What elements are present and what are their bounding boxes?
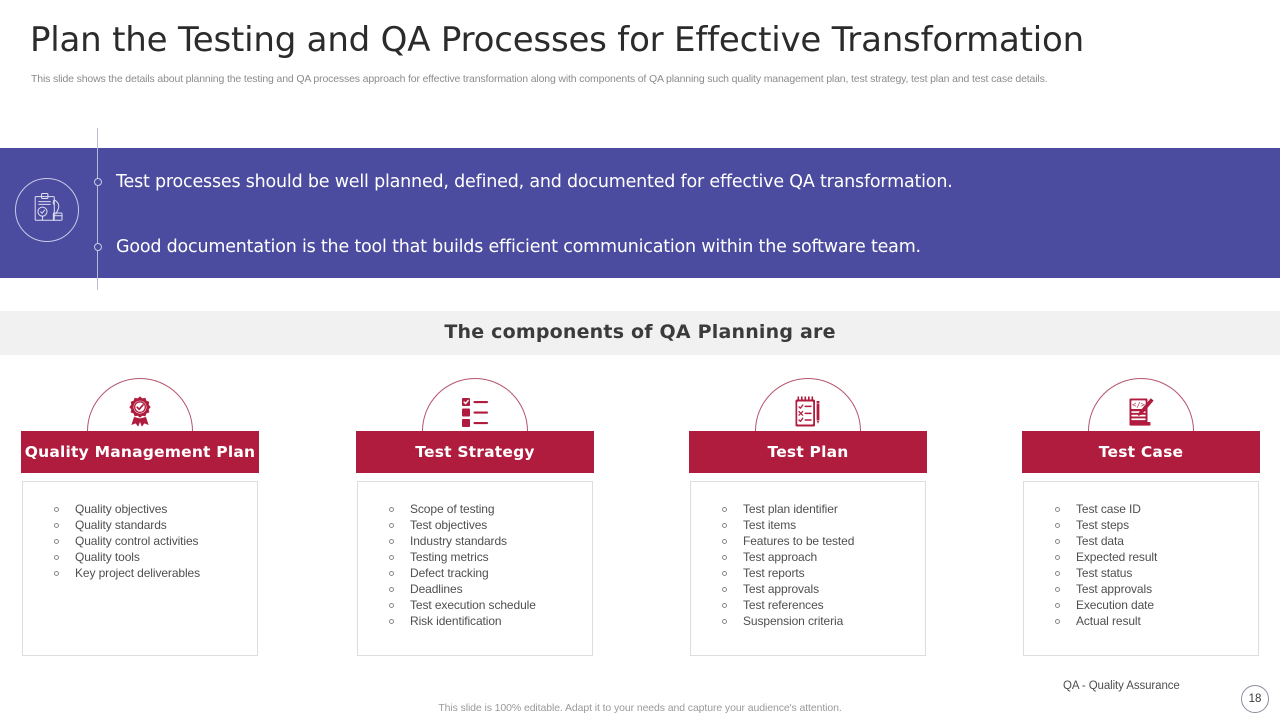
list-item: Expected result	[1054, 549, 1258, 565]
banner-bullet-dot-1	[94, 178, 102, 186]
card-title: Test Plan	[767, 443, 848, 461]
checklist-icon	[455, 392, 495, 432]
list-item: Execution date	[1054, 597, 1258, 613]
list-item: Quality tools	[53, 549, 257, 565]
card-test-case[interactable]: </> Test Case Test case ID Test steps	[1022, 378, 1260, 663]
card-header: Quality Management Plan	[21, 431, 259, 473]
list-item: Key project deliverables	[53, 565, 257, 581]
code-document-pencil-icon: </>	[1121, 392, 1161, 432]
banner-text-1: Test processes should be well planned, d…	[116, 172, 953, 192]
page-title: Plan the Testing and QA Processes for Ef…	[30, 20, 1250, 60]
card-list: Test case ID Test steps Test data Expect…	[1024, 501, 1258, 629]
list-item: Test approvals	[1054, 581, 1258, 597]
list-item: Quality control activities	[53, 533, 257, 549]
banner-bullet-dot-2	[94, 243, 102, 251]
card-list: Test plan identifier Test items Features…	[691, 501, 925, 629]
card-title: Test Strategy	[415, 443, 534, 461]
list-item: Test data	[1054, 533, 1258, 549]
list-item: Test objectives	[388, 517, 592, 533]
list-item: Testing metrics	[388, 549, 592, 565]
list-item: Defect tracking	[388, 565, 592, 581]
card-list: Quality objectives Quality standards Qua…	[23, 501, 257, 581]
page-subtitle: This slide shows the details about plann…	[31, 72, 1246, 86]
list-item: Scope of testing	[388, 501, 592, 517]
card-body: Test case ID Test steps Test data Expect…	[1023, 481, 1259, 656]
list-item: Test references	[721, 597, 925, 613]
card-test-strategy[interactable]: Test Strategy Scope of testing Test obje…	[356, 378, 594, 663]
footer-legend: QA - Quality Assurance	[1063, 680, 1180, 692]
card-title: Quality Management Plan	[25, 443, 255, 461]
list-item: Test reports	[721, 565, 925, 581]
list-item: Test case ID	[1054, 501, 1258, 517]
card-body: Scope of testing Test objectives Industr…	[357, 481, 593, 656]
list-item: Suspension criteria	[721, 613, 925, 629]
banner-icon-circle	[15, 178, 79, 242]
card-test-plan[interactable]: Test Plan Test plan identifier Test item…	[689, 378, 927, 663]
award-badge-check-icon	[120, 392, 160, 432]
card-header: Test Case	[1022, 431, 1260, 473]
list-item: Test approach	[721, 549, 925, 565]
clipboard-check-hand-icon	[27, 188, 67, 233]
card-body: Test plan identifier Test items Features…	[690, 481, 926, 656]
list-item: Industry standards	[388, 533, 592, 549]
component-cards: Quality Management Plan Quality objectiv…	[0, 378, 1280, 663]
list-item: Test plan identifier	[721, 501, 925, 517]
list-item: Quality objectives	[53, 501, 257, 517]
list-item: Test execution schedule	[388, 597, 592, 613]
highlight-banner	[0, 148, 1280, 278]
list-item: Test items	[721, 517, 925, 533]
list-item: Risk identification	[388, 613, 592, 629]
components-band-title: The components of QA Planning are	[0, 321, 1280, 343]
list-item: Quality standards	[53, 517, 257, 533]
list-item: Test steps	[1054, 517, 1258, 533]
list-item: Features to be tested	[721, 533, 925, 549]
card-body: Quality objectives Quality standards Qua…	[22, 481, 258, 656]
list-item: Test approvals	[721, 581, 925, 597]
card-quality-management-plan[interactable]: Quality Management Plan Quality objectiv…	[21, 378, 259, 663]
card-list: Scope of testing Test objectives Industr…	[358, 501, 592, 629]
card-header: Test Plan	[689, 431, 927, 473]
list-item: Deadlines	[388, 581, 592, 597]
notepad-checklist-pen-icon	[788, 392, 828, 432]
card-header: Test Strategy	[356, 431, 594, 473]
footer-note: This slide is 100% editable. Adapt it to…	[0, 702, 1280, 714]
banner-text-2: Good documentation is the tool that buil…	[116, 237, 921, 257]
banner-timeline-line	[97, 128, 98, 290]
list-item: Actual result	[1054, 613, 1258, 629]
list-item: Test status	[1054, 565, 1258, 581]
card-title: Test Case	[1099, 443, 1183, 461]
page-number-badge: 18	[1241, 685, 1269, 713]
